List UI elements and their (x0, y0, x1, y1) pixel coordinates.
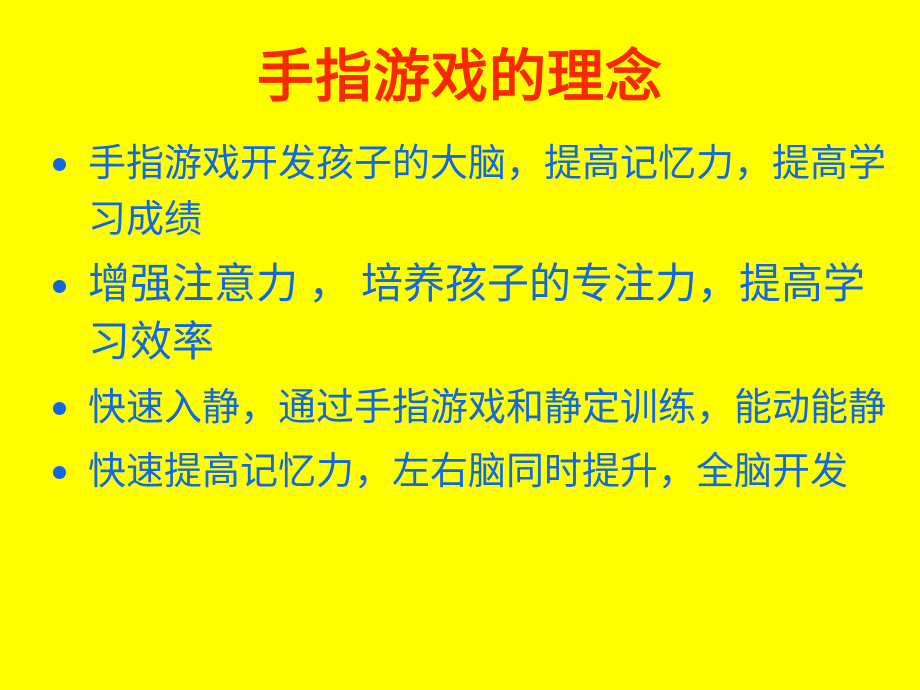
list-item: 快速提高记忆力，左右脑同时提升，全脑开发 (40, 444, 900, 500)
page-title: 手指游戏的理念 (0, 44, 920, 110)
list-item-text: 快速入静，通过手指游戏和静定训练，能动能静 (88, 380, 900, 436)
bullet-list: 手指游戏开发孩子的大脑，提高记忆力，提高学习成绩 增强注意力 ， 培养孩子的专注… (40, 136, 900, 508)
list-item-text: 手指游戏开发孩子的大脑，提高记忆力，提高学习成绩 (88, 136, 900, 248)
bullet-marker-icon (53, 466, 66, 479)
list-item-text: 快速提高记忆力，左右脑同时提升，全脑开发 (88, 444, 900, 500)
presentation-slide: 手指游戏的理念 手指游戏开发孩子的大脑，提高记忆力，提高学习成绩 增强注意力 ，… (0, 0, 920, 690)
list-item-text: 增强注意力 ， 培养孩子的专注力，提高学习效率 (88, 256, 900, 372)
list-item: 增强注意力 ， 培养孩子的专注力，提高学习效率 (40, 256, 900, 372)
list-item: 快速入静，通过手指游戏和静定训练，能动能静 (40, 380, 900, 436)
bullet-marker-icon (53, 402, 66, 415)
bullet-marker-icon (53, 280, 66, 293)
list-item: 手指游戏开发孩子的大脑，提高记忆力，提高学习成绩 (40, 136, 900, 248)
bullet-marker-icon (53, 158, 66, 171)
